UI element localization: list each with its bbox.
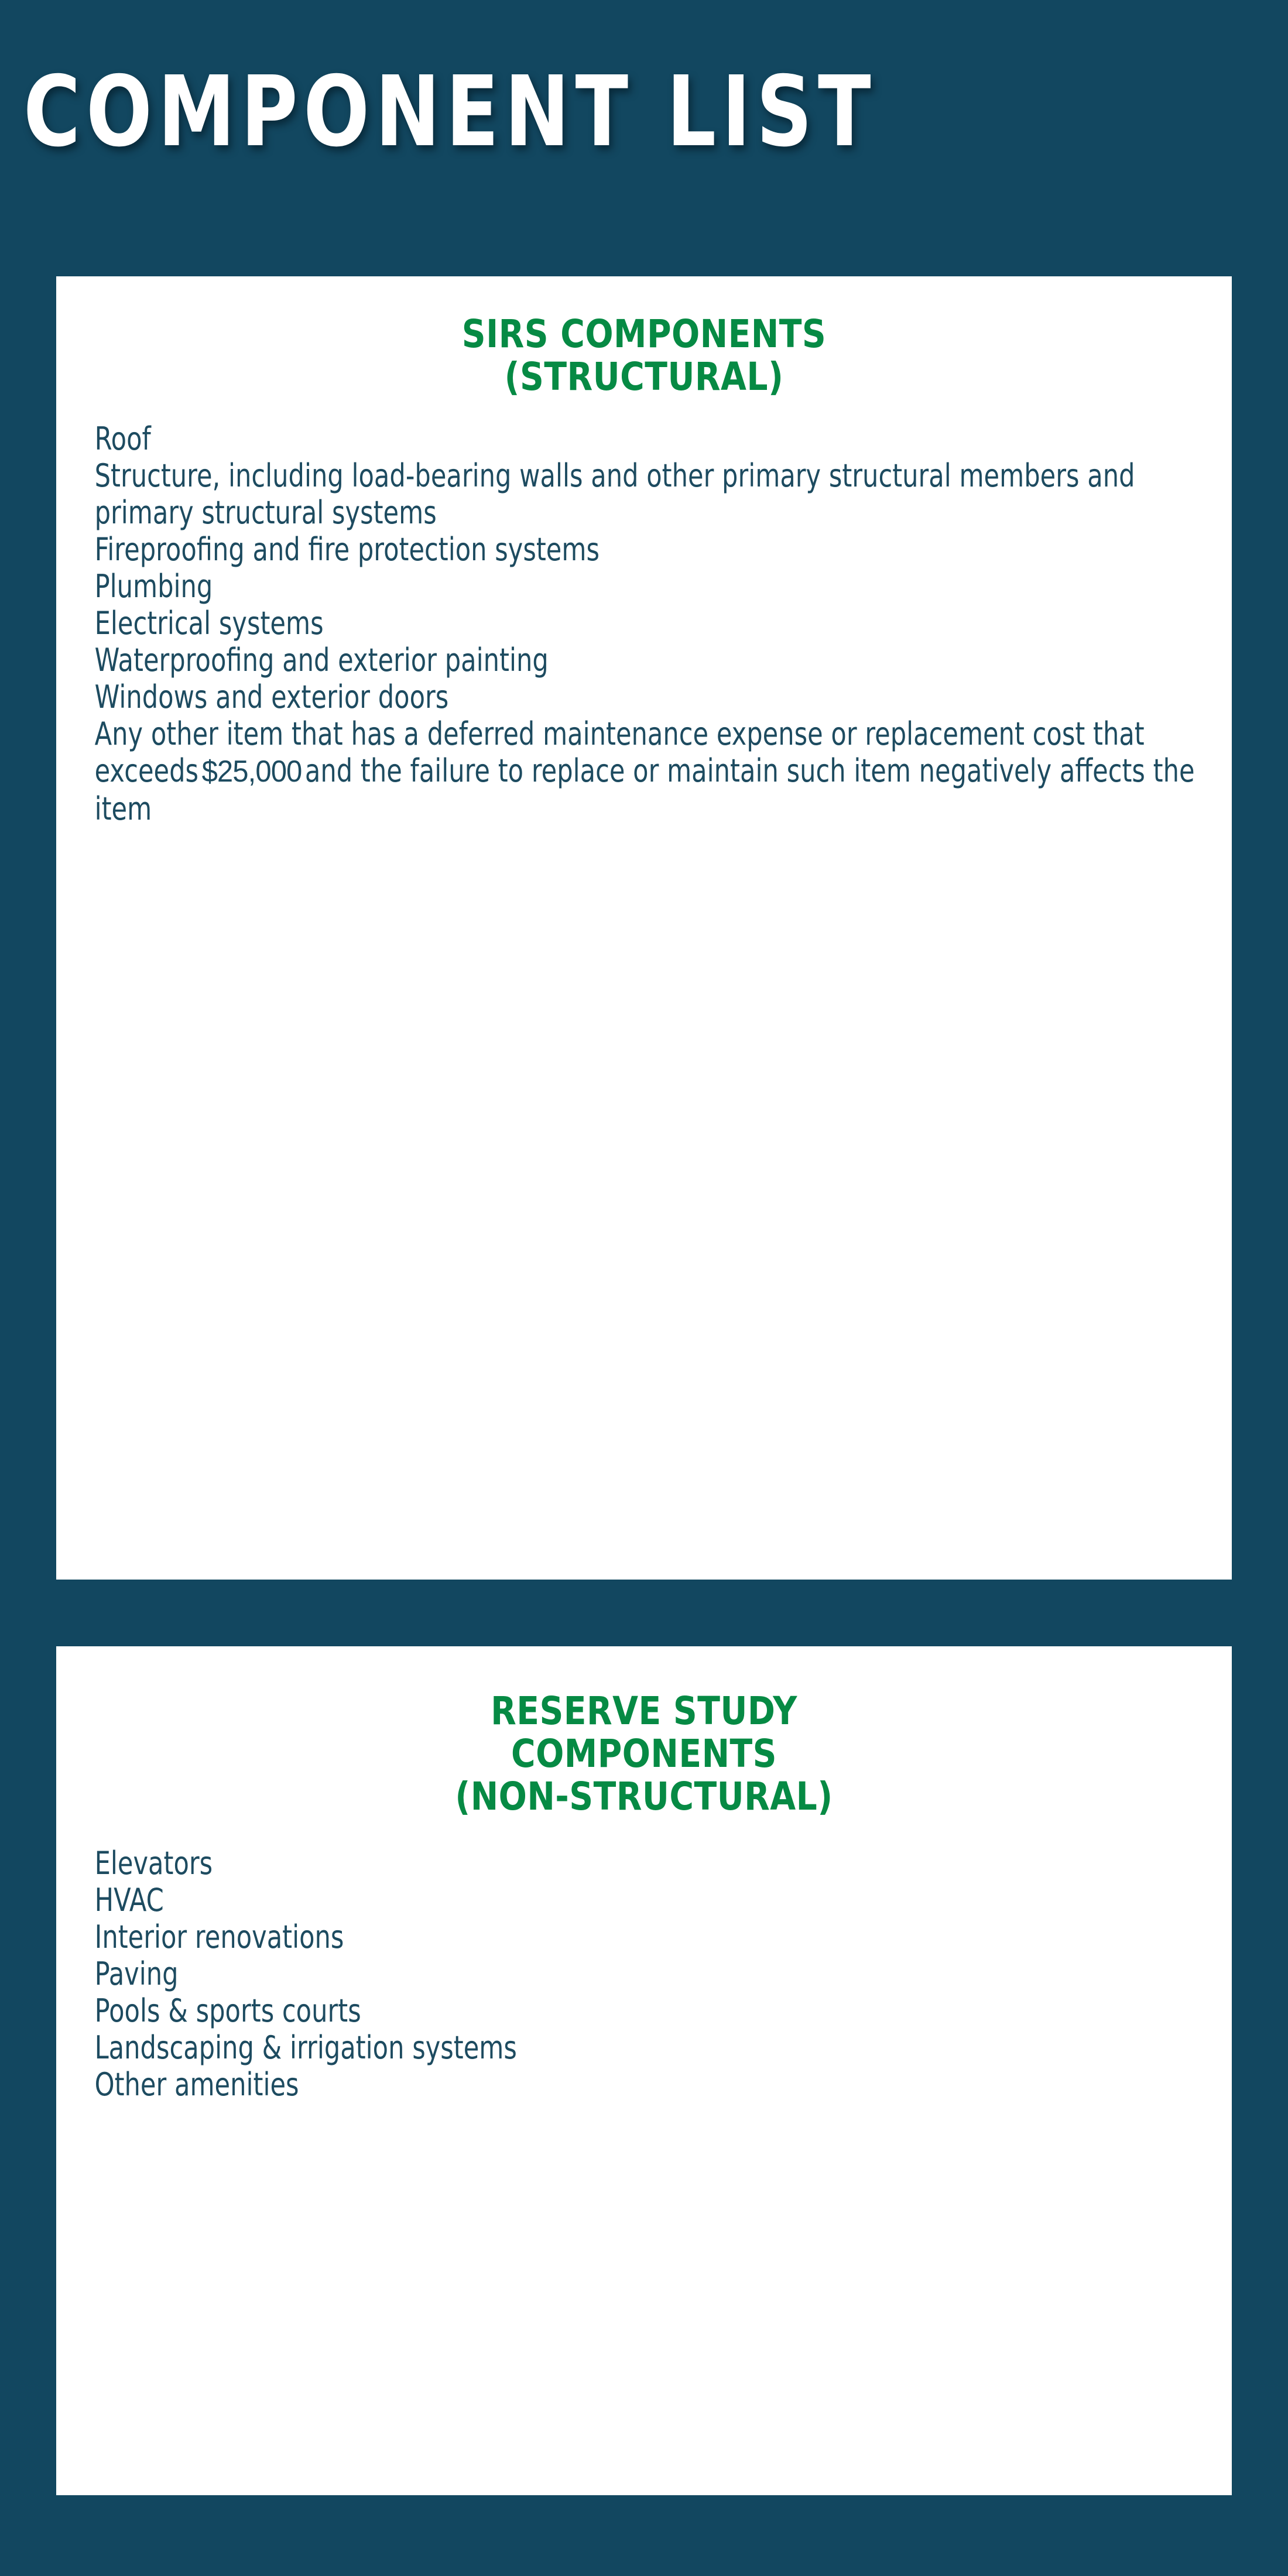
list-item: Fireproofing and fire protection systems — [95, 531, 1213, 568]
list-item: Landscaping & irrigation systems — [95, 2029, 1213, 2066]
card-sirs-structural-header: SIRS COMPONENTS (STRUCTURAL) — [139, 276, 1150, 398]
card-sirs-structural-body: Roof Structure, including load-bearing w… — [56, 398, 1232, 827]
card-reserve-study-nonstructural: RESERVE STUDY COMPONENTS (NON-STRUCTURAL… — [56, 1646, 1232, 2495]
infographic-page: COMPONENT LIST SIRS COMPONENTS (STRUCTUR… — [0, 0, 1288, 2576]
list-item: HVAC — [95, 1882, 1213, 1919]
list-item: Roof — [95, 420, 1213, 457]
card-header-line: (STRUCTURAL) — [139, 355, 1150, 398]
card-header-line: (NON-STRUCTURAL) — [139, 1775, 1150, 1818]
list-item: Elevators — [95, 1845, 1213, 1882]
list-item: Waterproofing and exterior painting — [95, 642, 1213, 679]
list-item: Structure, including load-bearing walls … — [95, 457, 1213, 531]
list-item: Windows and exterior doors — [95, 679, 1213, 715]
list-item: Plumbing — [95, 568, 1213, 605]
card-reserve-study-header: RESERVE STUDY COMPONENTS (NON-STRUCTURAL… — [139, 1646, 1150, 1818]
list-item: Electrical systems — [95, 605, 1213, 642]
card-header-line: RESERVE STUDY — [139, 1690, 1150, 1732]
card-reserve-study-body: Elevators HVAC Interior renovations Pavi… — [56, 1818, 1232, 2103]
page-title: COMPONENT LIST — [23, 63, 1016, 169]
list-item: Interior renovations — [95, 1919, 1213, 1955]
card-sirs-structural: SIRS COMPONENTS (STRUCTURAL) Roof Struct… — [56, 276, 1232, 1580]
amount-threshold: $25,000 — [198, 753, 305, 790]
list-item: Any other item that has a deferred maint… — [95, 715, 1213, 827]
list-item: Pools & sports courts — [95, 1992, 1213, 2029]
list-item: Paving — [95, 1955, 1213, 1992]
card-header-line: SIRS COMPONENTS — [139, 313, 1150, 355]
list-item: Other amenities — [95, 2066, 1213, 2103]
card-header-line: COMPONENTS — [139, 1732, 1150, 1775]
